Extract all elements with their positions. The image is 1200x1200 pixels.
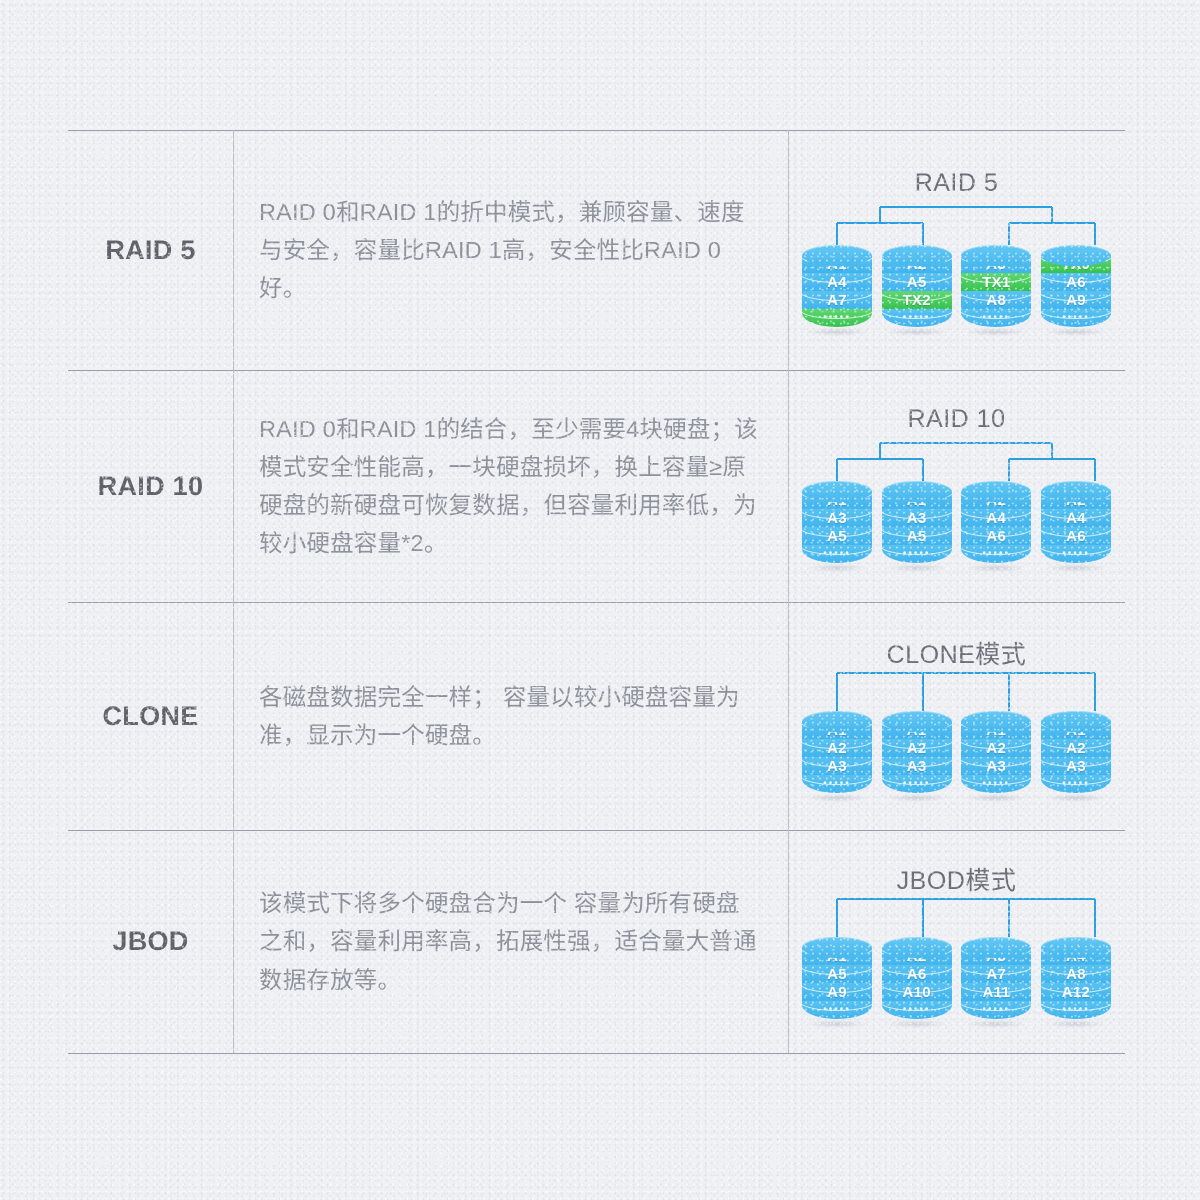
disk-top-ellipse (1041, 481, 1111, 502)
disk-band: ••••• (882, 1001, 952, 1019)
disk-band: ••••• (882, 775, 952, 793)
disk-band-label: A12 (1062, 985, 1090, 1000)
disk-cylinder: A1A2A3••••• (882, 711, 952, 797)
disk-band: ••••• (802, 545, 872, 563)
disk-band-ellipsis: ••••• (983, 779, 1011, 789)
disk-shadow (1045, 794, 1107, 802)
disk-band-label: A2 (1066, 741, 1086, 756)
disk-array-diagram: CLONE模式A1A2A3•••••A1A2A3•••••A1A2A3•••••… (788, 602, 1125, 830)
disk-cylinder: A2A4A6••••• (1041, 481, 1111, 567)
disk-band: ••••• (1041, 309, 1111, 327)
disk-shadow (965, 1020, 1027, 1028)
disk-band-label: A9 (1066, 293, 1086, 308)
disk-band: A3 (882, 509, 952, 527)
disk-band-ellipsis: ••••• (823, 779, 851, 789)
mode-diagram-cell: CLONE模式A1A2A3•••••A1A2A3•••••A1A2A3•••••… (788, 602, 1125, 830)
mode-name-label: RAID 5 (105, 235, 195, 266)
disk-band: A2 (802, 739, 872, 757)
mode-name-cell: RAID 5 (68, 130, 233, 370)
disk-band: A6 (961, 527, 1031, 545)
mode-description-cell: 各磁盘数据完全一样； 容量以较小硬盘容量为准，显示为一个硬盘。 (233, 602, 788, 830)
diagram-title: RAID 10 (788, 405, 1125, 434)
disk-cylinder: A1A4A7••••• (802, 245, 872, 331)
disk-band: A2 (1041, 739, 1111, 757)
disk-cylinder: A3A7A11••••• (961, 937, 1031, 1023)
mode-name-cell: RAID 10 (68, 370, 233, 602)
disk-top-ellipse (961, 937, 1031, 958)
disk-array-diagram: RAID 10A1A3A5•••••A1A3A5•••••A2A4A6•••••… (788, 370, 1125, 602)
disk-band: A8 (1041, 965, 1111, 983)
diagram-connector-bracket (788, 201, 1125, 249)
disk-row: A1A5A9•••••A2A6A10•••••A3A7A11•••••A4A8A… (788, 937, 1125, 1023)
mode-name-cell: JBOD (68, 830, 233, 1053)
disk-row: A1A3A5•••••A1A3A5•••••A2A4A6•••••A2A4A6•… (788, 481, 1125, 567)
disk-band: ••••• (961, 309, 1031, 327)
table-row: RAID 10RAID 0和RAID 1的结合，至少需要4块硬盘；该模式安全性能… (68, 370, 1125, 602)
disk-band: A5 (882, 527, 952, 545)
disk-top-ellipse (1041, 711, 1111, 732)
disk-array-diagram: JBOD模式A1A5A9•••••A2A6A10•••••A3A7A11••••… (788, 830, 1125, 1053)
disk-band-label: A4 (986, 511, 1006, 526)
table-row: JBOD该模式下将多个硬盘合为一个 容量为所有硬盘之和，容量利用率高，拓展性强，… (68, 830, 1125, 1053)
disk-band-label: A2 (827, 741, 847, 756)
mode-description-text: RAID 0和RAID 1的折中模式，兼顾容量、速度与安全，容量比RAID 1高… (259, 193, 762, 307)
disk-band-ellipsis: ••••• (823, 549, 851, 559)
diagram-connector-bracket (788, 667, 1125, 715)
disk-band: A9 (1041, 291, 1111, 309)
disk-shadow (886, 1020, 948, 1028)
disk-cylinder: A4A8A12••••• (1041, 937, 1111, 1023)
disk-band: A6 (1041, 273, 1111, 291)
disk-band-label: A3 (907, 511, 927, 526)
disk-band: ••••• (1041, 1001, 1111, 1019)
disk-shadow (1045, 1020, 1107, 1028)
disk-shadow (965, 794, 1027, 802)
mode-name-label: RAID 10 (98, 471, 204, 502)
disk-band-ellipsis: ••••• (903, 1005, 931, 1015)
disk-band-label: A10 (902, 985, 930, 1000)
disk-band: A5 (802, 965, 872, 983)
disk-band: A9 (802, 983, 872, 1001)
disk-shadow (806, 794, 868, 802)
disk-band: ••••• (1041, 775, 1111, 793)
disk-cylinder: A2A4A6••••• (961, 481, 1031, 567)
disk-band: A2 (961, 739, 1031, 757)
disk-band: A6 (882, 965, 952, 983)
disk-top-ellipse (1041, 245, 1111, 266)
table-row: CLONE各磁盘数据完全一样； 容量以较小硬盘容量为准，显示为一个硬盘。CLON… (68, 602, 1125, 830)
disk-band-label: A7 (986, 967, 1006, 982)
disk-band-label: A5 (827, 967, 847, 982)
disk-band: TX2 (882, 291, 952, 309)
disk-band: A4 (802, 273, 872, 291)
disk-band: A6 (1041, 527, 1111, 545)
disk-band: A10 (882, 983, 952, 1001)
mode-name-label: JBOD (112, 926, 188, 957)
disk-cylinder: A1A2A3••••• (1041, 711, 1111, 797)
disk-band-label: A6 (1066, 275, 1086, 290)
disk-cylinder: A1A3A5••••• (802, 481, 872, 567)
disk-band-ellipsis: ••••• (1062, 313, 1090, 323)
disk-band: A3 (802, 757, 872, 775)
mode-name-label: CLONE (103, 701, 199, 732)
disk-top-ellipse (882, 481, 952, 502)
disk-row: A1A2A3•••••A1A2A3•••••A1A2A3•••••A1A2A3•… (788, 711, 1125, 797)
mode-diagram-cell: JBOD模式A1A5A9•••••A2A6A10•••••A3A7A11••••… (788, 830, 1125, 1053)
disk-band: A3 (802, 509, 872, 527)
disk-shadow (1045, 328, 1107, 336)
raid-comparison-page: RAID 5RAID 0和RAID 1的折中模式，兼顾容量、速度与安全，容量比R… (0, 0, 1200, 1200)
disk-band: A4 (1041, 509, 1111, 527)
disk-band-ellipsis: ••••• (903, 779, 931, 789)
disk-top-ellipse (882, 711, 952, 732)
disk-cylinder: TX0A6A9••••• (1041, 245, 1111, 331)
disk-top-ellipse (802, 481, 872, 502)
diagram-connector-bracket (788, 437, 1125, 485)
mode-description-cell: RAID 0和RAID 1的折中模式，兼顾容量、速度与安全，容量比RAID 1高… (233, 130, 788, 370)
disk-band: A12 (1041, 983, 1111, 1001)
mode-description-cell: 该模式下将多个硬盘合为一个 容量为所有硬盘之和，容量利用率高，拓展性强，适合量大… (233, 830, 788, 1053)
disk-band-ellipsis: ••••• (1062, 779, 1090, 789)
disk-band-ellipsis: ••••• (1062, 549, 1090, 559)
disk-band: TX1 (961, 273, 1031, 291)
disk-band-label: A3 (827, 759, 847, 774)
disk-band-label: A4 (827, 275, 847, 290)
disk-shadow (965, 328, 1027, 336)
disk-band: A11 (961, 983, 1031, 1001)
mode-name-cell: CLONE (68, 602, 233, 830)
disk-band-label: A3 (827, 511, 847, 526)
disk-band-ellipsis: ••••• (1062, 1005, 1090, 1015)
disk-band-label: A11 (983, 985, 1011, 1000)
disk-band: A5 (882, 273, 952, 291)
disk-band: A4 (961, 509, 1031, 527)
mode-description-text: RAID 0和RAID 1的结合，至少需要4块硬盘；该模式安全性能高，一块硬盘损… (259, 410, 762, 562)
disk-band-ellipsis: ••••• (823, 1005, 851, 1015)
disk-top-ellipse (961, 245, 1031, 266)
disk-band-ellipsis: ••••• (983, 549, 1011, 559)
disk-shadow (806, 328, 868, 336)
disk-band: A3 (961, 757, 1031, 775)
disk-top-ellipse (961, 711, 1031, 732)
disk-band: A2 (882, 739, 952, 757)
disk-top-ellipse (882, 245, 952, 266)
raid-mode-table: RAID 5RAID 0和RAID 1的折中模式，兼顾容量、速度与安全，容量比R… (68, 130, 1125, 1053)
disk-band-label: A5 (907, 275, 927, 290)
disk-band: ••••• (961, 775, 1031, 793)
disk-top-ellipse (882, 937, 952, 958)
disk-top-ellipse (802, 711, 872, 732)
disk-band-label: A4 (1066, 511, 1086, 526)
mode-diagram-cell: RAID 5A1A4A7•••••A2A5TX2•••••A3TX1A8••••… (788, 130, 1125, 370)
mode-diagram-cell: RAID 10A1A3A5•••••A1A3A5•••••A2A4A6•••••… (788, 370, 1125, 602)
disk-cylinder: A1A5A9••••• (802, 937, 872, 1023)
disk-shadow (886, 794, 948, 802)
disk-band: A3 (882, 757, 952, 775)
disk-band-label: TX1 (982, 275, 1010, 290)
disk-cylinder: A3TX1A8••••• (961, 245, 1031, 331)
diagram-title: RAID 5 (788, 169, 1125, 198)
disk-band: A7 (961, 965, 1031, 983)
disk-band-label: A3 (907, 759, 927, 774)
disk-shadow (806, 564, 868, 572)
disk-band-label: A8 (986, 293, 1006, 308)
disk-array-diagram: RAID 5A1A4A7•••••A2A5TX2•••••A3TX1A8••••… (788, 130, 1125, 370)
table-row-divider (68, 1053, 1125, 1054)
disk-band: ••••• (1041, 545, 1111, 563)
disk-shadow (886, 564, 948, 572)
disk-top-ellipse (1041, 937, 1111, 958)
disk-band-label: TX2 (902, 293, 930, 308)
disk-cylinder: A1A2A3••••• (961, 711, 1031, 797)
diagram-title: CLONE模式 (788, 635, 1125, 671)
disk-band: ••••• (961, 545, 1031, 563)
mode-description-text: 各磁盘数据完全一样； 容量以较小硬盘容量为准，显示为一个硬盘。 (259, 678, 762, 754)
disk-shadow (886, 328, 948, 336)
disk-band: ••••• (802, 1001, 872, 1019)
disk-shadow (1045, 564, 1107, 572)
disk-row: A1A4A7•••••A2A5TX2•••••A3TX1A8•••••TX0A6… (788, 245, 1125, 331)
disk-band-label: A2 (907, 741, 927, 756)
disk-band-label: A8 (1066, 967, 1086, 982)
disk-band-label: A3 (1066, 759, 1086, 774)
mode-description-cell: RAID 0和RAID 1的结合，至少需要4块硬盘；该模式安全性能高，一块硬盘损… (233, 370, 788, 602)
disk-band-label: A6 (1066, 529, 1086, 544)
disk-band-label: A5 (907, 529, 927, 544)
disk-band: ••••• (882, 545, 952, 563)
disk-cylinder: A2A6A10••••• (882, 937, 952, 1023)
disk-top-ellipse (802, 245, 872, 266)
disk-cylinder: A1A2A3••••• (802, 711, 872, 797)
disk-shadow (965, 564, 1027, 572)
disk-band-label: A9 (827, 985, 847, 1000)
disk-band-label: A5 (827, 529, 847, 544)
disk-band: ••••• (802, 309, 872, 327)
disk-band: ••••• (802, 775, 872, 793)
disk-band-label: A6 (986, 529, 1006, 544)
diagram-connector-bracket (788, 893, 1125, 941)
disk-band: A8 (961, 291, 1031, 309)
disk-band-ellipsis: ••••• (823, 313, 851, 323)
disk-cylinder: A2A5TX2••••• (882, 245, 952, 331)
disk-band-ellipsis: ••••• (983, 313, 1011, 323)
disk-band-label: A3 (986, 759, 1006, 774)
disk-band: A5 (802, 527, 872, 545)
disk-cylinder: A1A3A5••••• (882, 481, 952, 567)
disk-top-ellipse (802, 937, 872, 958)
disk-band: A3 (1041, 757, 1111, 775)
disk-band: ••••• (961, 1001, 1031, 1019)
disk-band: A7 (802, 291, 872, 309)
mode-description-text: 该模式下将多个硬盘合为一个 容量为所有硬盘之和，容量利用率高，拓展性强，适合量大… (259, 884, 762, 998)
disk-top-ellipse (961, 481, 1031, 502)
diagram-title: JBOD模式 (788, 861, 1125, 897)
disk-shadow (806, 1020, 868, 1028)
disk-band-ellipsis: ••••• (903, 313, 931, 323)
disk-band-ellipsis: ••••• (903, 549, 931, 559)
disk-band-label: A6 (907, 967, 927, 982)
disk-band-ellipsis: ••••• (983, 1005, 1011, 1015)
disk-band: ••••• (882, 309, 952, 327)
table-row: RAID 5RAID 0和RAID 1的折中模式，兼顾容量、速度与安全，容量比R… (68, 130, 1125, 370)
disk-band-label: A7 (827, 293, 847, 308)
disk-band-label: A2 (986, 741, 1006, 756)
